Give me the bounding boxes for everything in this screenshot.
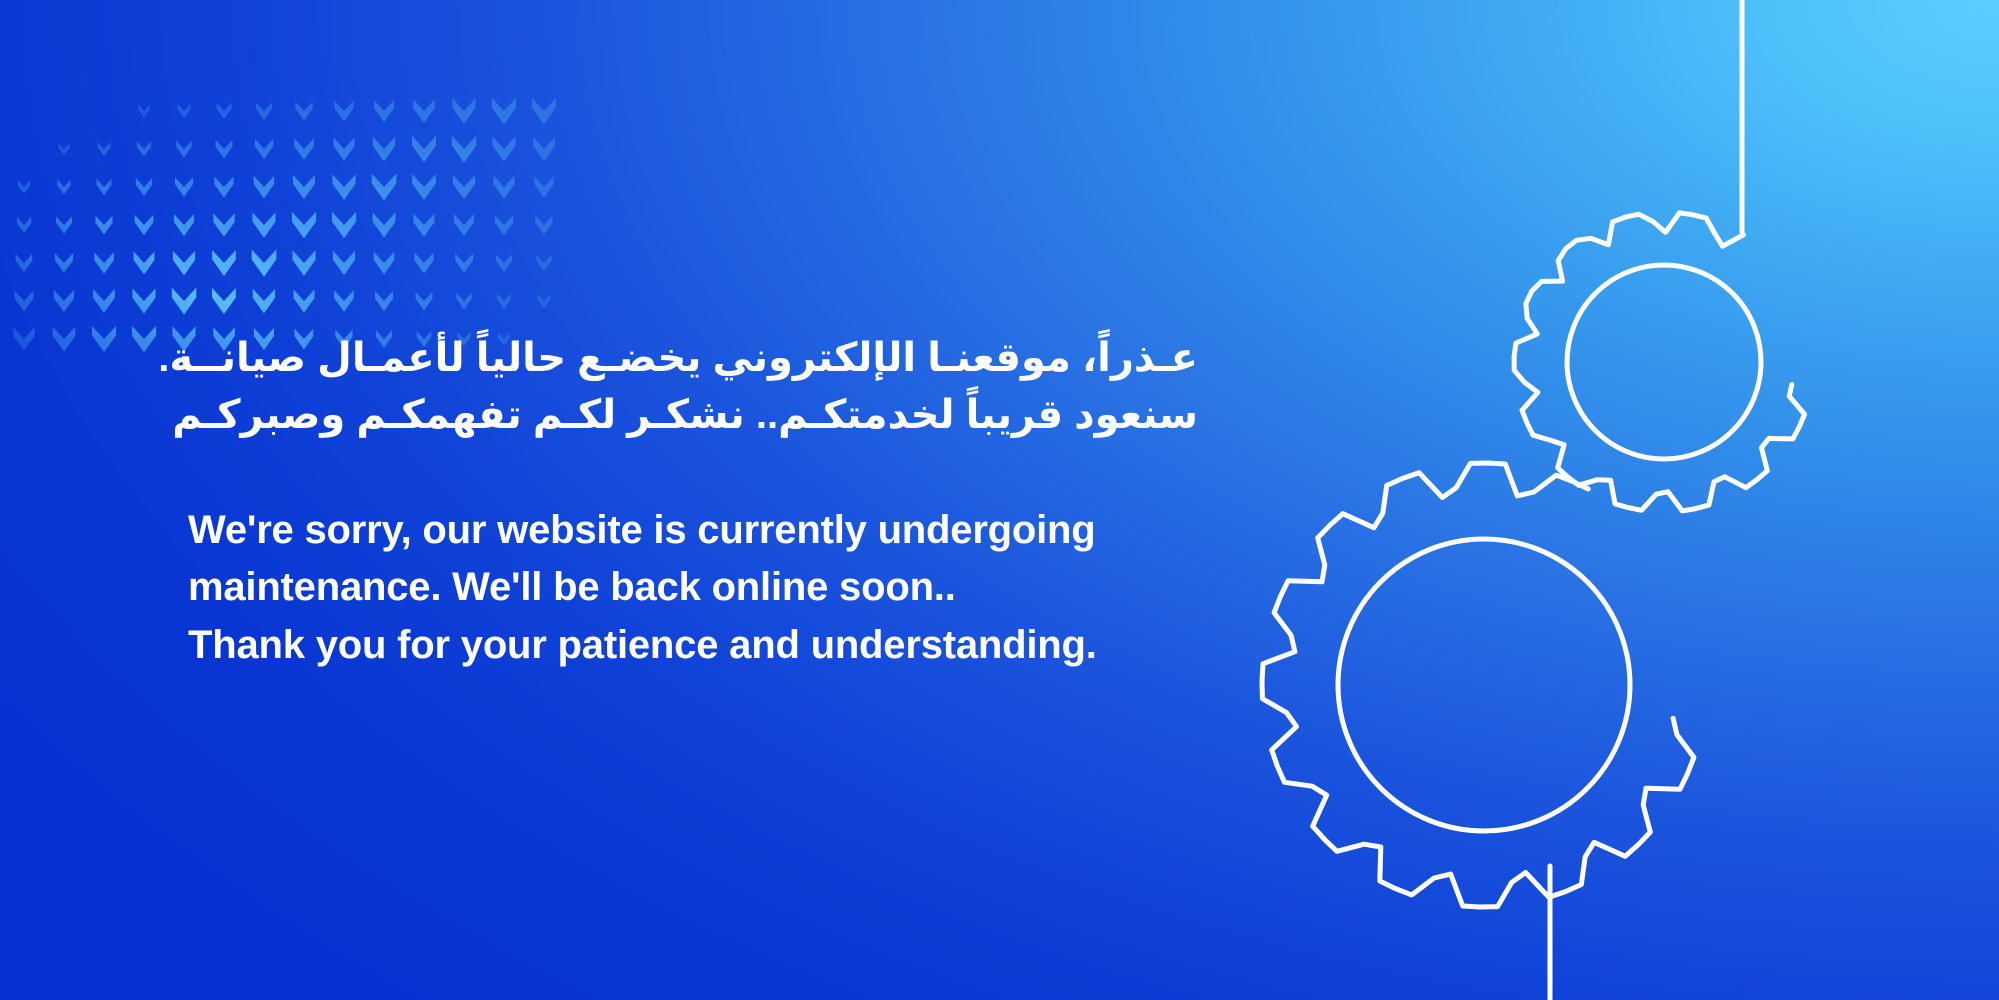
large-gear-outline	[1262, 463, 1694, 907]
arabic-line-2: سنعود قريباً لخدمتكـم.. نشكـر لكـم تفهمك…	[188, 387, 1198, 444]
chevron-dot-pattern	[0, 0, 560, 360]
gears-illustration	[1239, 0, 1999, 1000]
arabic-line-1: عـذراً، موقعنـا الإلكتروني يخضـع حالياً …	[188, 330, 1198, 387]
maintenance-message: عـذراً، موقعنـا الإلكتروني يخضـع حالياً …	[188, 330, 1198, 674]
maintenance-page: عـذراً، موقعنـا الإلكتروني يخضـع حالياً …	[0, 0, 1999, 1000]
small-gear-outline	[1514, 213, 1805, 511]
english-message: We're sorry, our website is currently un…	[188, 502, 1198, 675]
small-gear-inner-circle	[1567, 265, 1761, 459]
large-gear-inner-circle	[1338, 539, 1630, 831]
english-line-3: Thank you for your patience and understa…	[188, 617, 1198, 675]
arabic-message: عـذراً، موقعنـا الإلكتروني يخضـع حالياً …	[188, 330, 1198, 444]
english-line-1: We're sorry, our website is currently un…	[188, 502, 1198, 560]
english-line-2: maintenance. We'll be back online soon..	[188, 559, 1198, 617]
